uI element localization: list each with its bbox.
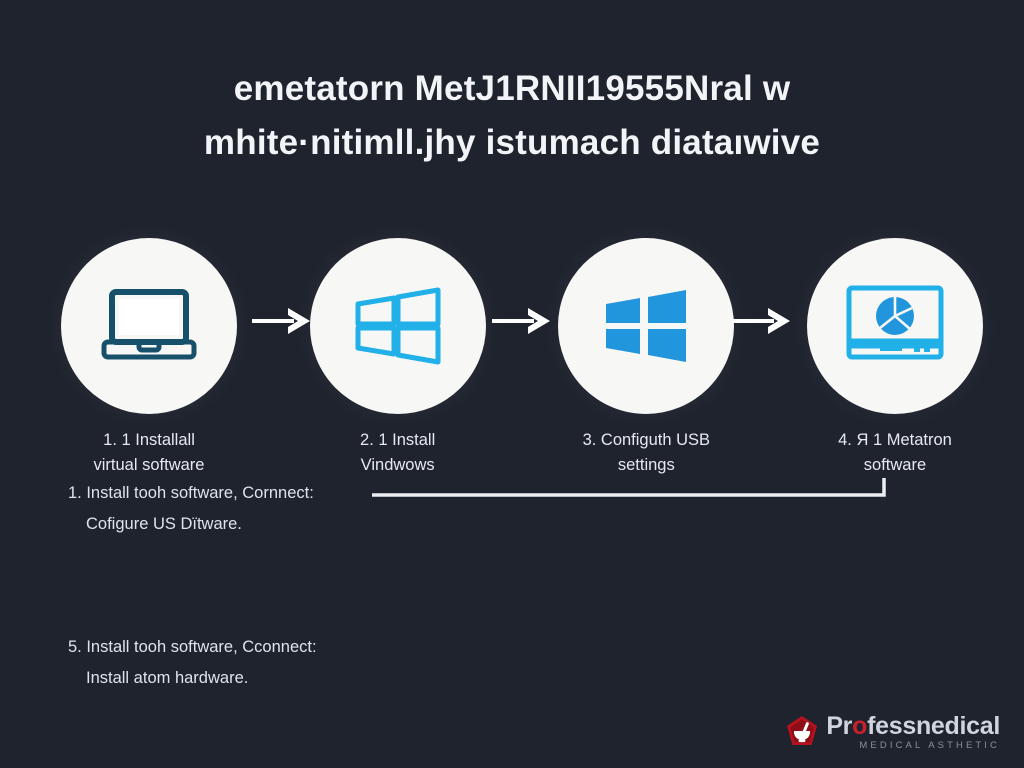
- step-4-label: 4. Я 1 Metatron software: [795, 428, 995, 478]
- step-3-label: 3. Configuth USB settings: [546, 428, 746, 478]
- arrow-right-icon-1: [252, 306, 314, 336]
- step-4-circle: [807, 238, 983, 414]
- monitor-globe-icon: [844, 283, 946, 370]
- step-1-label-line-2: virtual software: [49, 453, 249, 478]
- brand-tagline: MEDICAL ASTHETIC: [826, 741, 1000, 751]
- step-3-label-line-2: settings: [546, 453, 746, 478]
- windows-solid-icon: [600, 282, 692, 371]
- step-3[interactable]: 3. Configuth USB settings: [553, 238, 739, 478]
- step-1-label: 1. 1 Installall virtual software: [49, 428, 249, 478]
- brand-name-part2: fessnedical: [867, 712, 1000, 740]
- page-title-line-2: mhite·nitimll.jhy istumach diataıwive: [0, 116, 1024, 170]
- brand-name-accent: o: [852, 712, 867, 740]
- step-1-circle: [61, 238, 237, 414]
- laptop-icon: [101, 287, 197, 366]
- mortar-pestle-icon: [785, 715, 819, 749]
- step-2-label: 2. 1 Install Vindwows: [298, 428, 498, 478]
- instruction-2-line-1: 5. Install tooh software, Cconnect:: [68, 638, 317, 656]
- brand-logo: Professnedical MEDICAL ASTHETIC: [785, 714, 1000, 751]
- connector-line: [372, 478, 888, 500]
- step-3-circle: [558, 238, 734, 414]
- steps-row: 1. 1 Installall virtual software: [56, 238, 988, 458]
- step-4-label-line-2: software: [795, 453, 995, 478]
- brand-name: Professnedical: [826, 714, 1000, 739]
- step-1[interactable]: 1. 1 Installall virtual software: [56, 238, 242, 478]
- instruction-1-line-1: 1. Install tooh software, Cornnect:: [68, 484, 314, 502]
- page-title-line-1: emetatorn MetJ1RNII19555Nral w: [0, 62, 1024, 116]
- step-2-label-line-2: Vindwows: [298, 453, 498, 478]
- step-3-label-line-1: 3. Configuth USB: [583, 431, 711, 449]
- step-2-circle: [310, 238, 486, 414]
- arrow-right-icon-3: [732, 306, 794, 336]
- slide-canvas: emetatorn MetJ1RNII19555Nral w mhite·nit…: [0, 0, 1024, 768]
- instruction-paragraph-1: 1. Install tooh software, Cornnect: Cofi…: [68, 478, 314, 540]
- brand-name-part1: Pr: [826, 712, 852, 740]
- instruction-2-line-2: Install atom hardware.: [68, 663, 317, 694]
- arrow-right-icon-2: [492, 306, 554, 336]
- step-2-label-line-1: 2. 1 Install: [360, 431, 435, 449]
- step-2[interactable]: 2. 1 Install Vindwows: [305, 238, 491, 478]
- brand-logo-text: Professnedical MEDICAL ASTHETIC: [826, 714, 1000, 751]
- windows-outline-icon: [352, 282, 444, 371]
- instruction-paragraph-2: 5. Install tooh software, Cconnect: Inst…: [68, 632, 317, 694]
- step-4-label-line-1: 4. Я 1 Metatron: [838, 431, 952, 449]
- step-1-label-line-1: 1. 1 Installall: [103, 431, 195, 449]
- page-title: emetatorn MetJ1RNII19555Nral w mhite·nit…: [0, 62, 1024, 170]
- instruction-1-line-2: Cofigure US Dïtware.: [68, 509, 314, 540]
- step-4[interactable]: 4. Я 1 Metatron software: [802, 238, 988, 478]
